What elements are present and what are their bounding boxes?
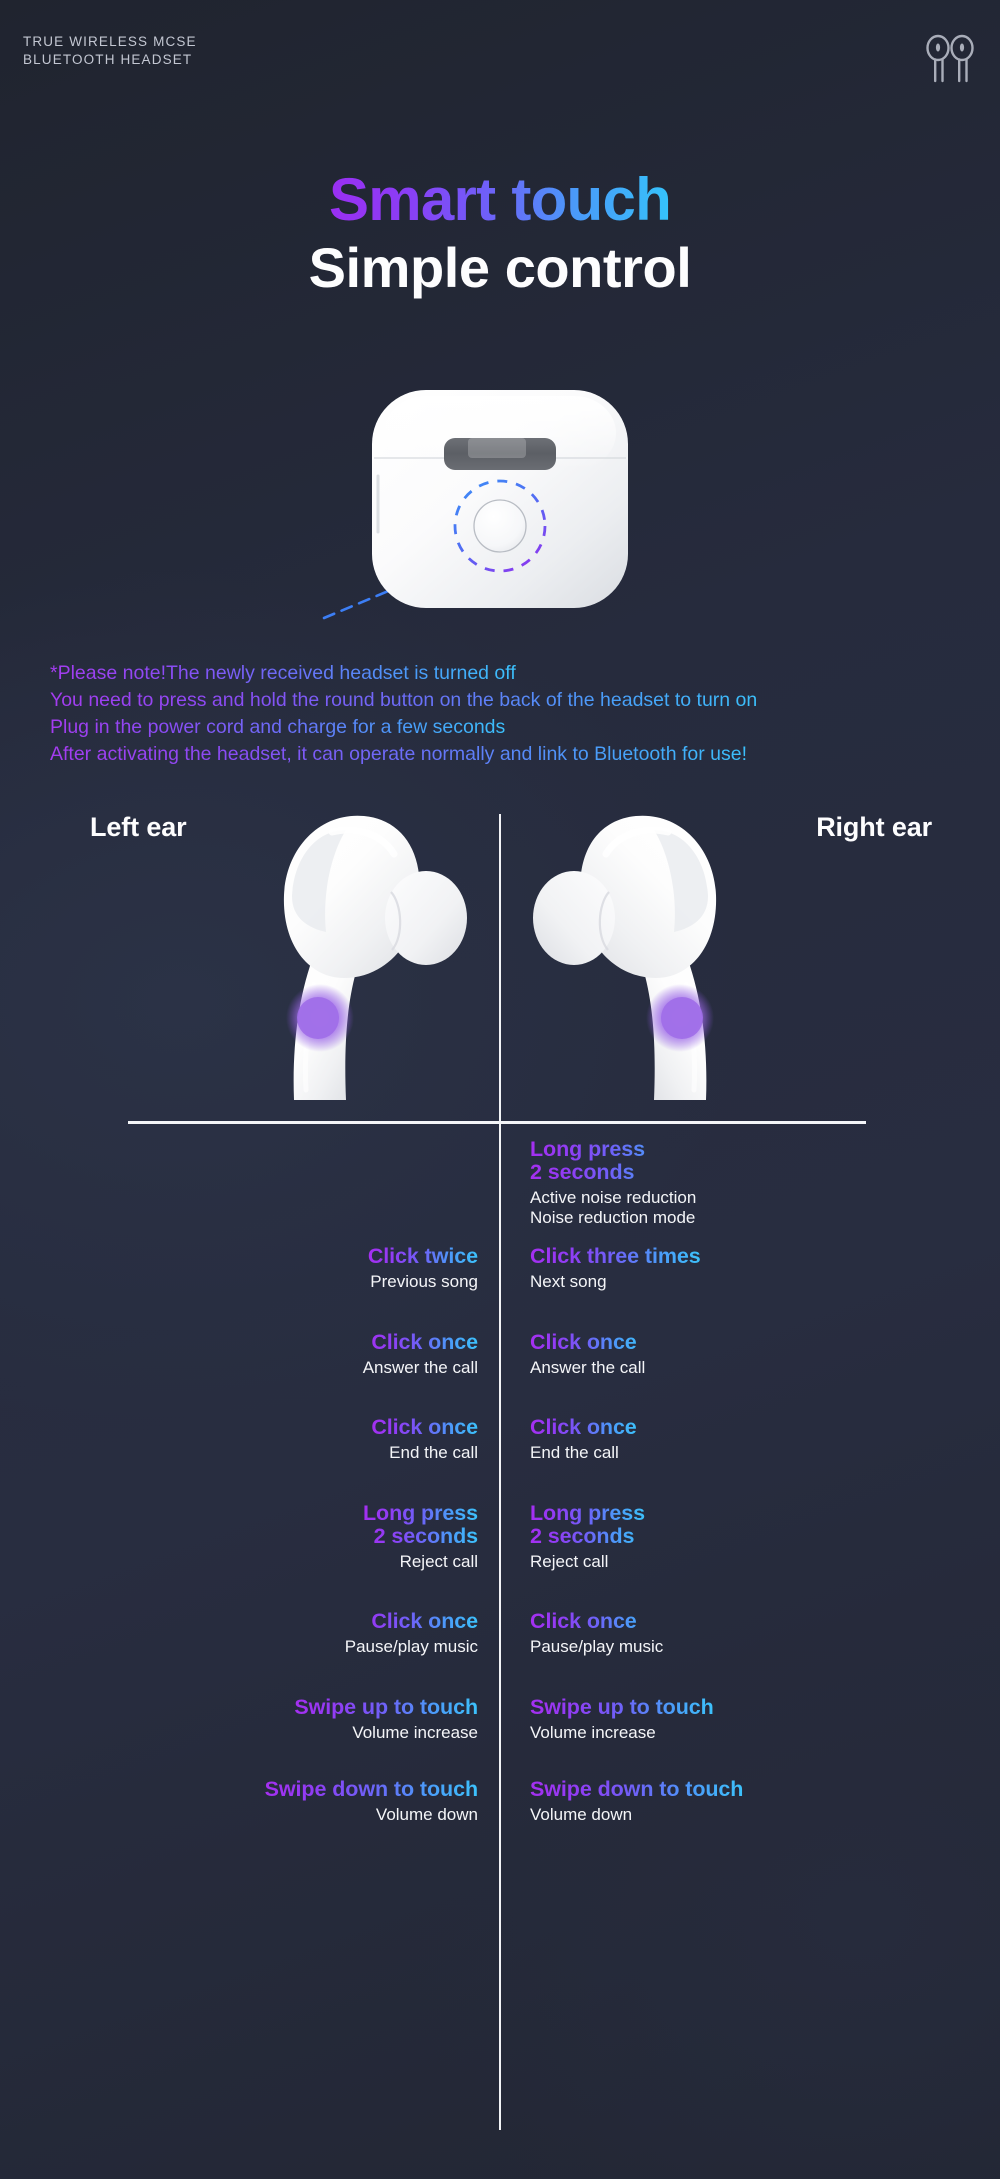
instruction-action-label: 2 seconds — [530, 1525, 645, 1548]
please-note-block: *Please note!The newly received headset … — [50, 660, 970, 768]
instruction-description: Active noise reduction — [530, 1188, 696, 1209]
left-earbud-icon — [240, 800, 475, 1110]
left-ear-instruction-cell: Click twicePrevious song — [368, 1245, 478, 1293]
right-ear-instruction-cell: Click onceEnd the call — [530, 1416, 637, 1464]
instruction-description: Reject call — [530, 1552, 645, 1573]
instruction-action-label: Click twice — [368, 1245, 478, 1268]
instruction-description: Noise reduction mode — [530, 1208, 696, 1229]
right-ear-instruction-cell: Click oncePause/play music — [530, 1610, 663, 1658]
charging-case-icon — [260, 380, 740, 648]
instruction-action-label: Swipe up to touch — [294, 1696, 478, 1719]
instruction-action-label: Click once — [530, 1416, 637, 1439]
title-line-1: Smart touch — [329, 168, 671, 232]
right-ear-instruction-cell: Swipe up to touchVolume increase — [530, 1696, 714, 1744]
instruction-description: Reject call — [363, 1552, 478, 1573]
header-brand-text: TRUE WIRELESS MCSE BLUETOOTH HEADSET — [23, 33, 197, 69]
instruction-description: Volume increase — [530, 1723, 714, 1744]
instruction-action-label: Long press — [530, 1138, 696, 1161]
right-earbud-icon — [525, 800, 760, 1110]
title-line-2: Simple control — [0, 236, 1000, 300]
left-ear-instruction-cell: Swipe down to touchVolume down — [265, 1778, 478, 1826]
note-line-2: You need to press and hold the round but… — [50, 687, 757, 714]
instruction-action-label: Swipe up to touch — [530, 1696, 714, 1719]
instruction-action-label: Swipe down to touch — [265, 1778, 478, 1801]
instruction-description: Previous song — [368, 1272, 478, 1293]
instruction-description: Volume down — [530, 1805, 743, 1826]
instruction-action-label: Swipe down to touch — [530, 1778, 743, 1801]
instruction-description: Answer the call — [363, 1358, 478, 1379]
instruction-action-label: 2 seconds — [530, 1161, 696, 1184]
instruction-description: Answer the call — [530, 1358, 645, 1379]
round-button-icon — [474, 500, 526, 552]
note-line-1: *Please note!The newly received headset … — [50, 660, 516, 687]
instruction-action-label: Click once — [345, 1610, 478, 1633]
instruction-action-label: Click once — [363, 1331, 478, 1354]
left-ear-instruction-cell: Click oncePause/play music — [345, 1610, 478, 1658]
instruction-action-label: Long press — [530, 1502, 645, 1525]
instruction-action-label: Click once — [371, 1416, 478, 1439]
charging-case-illustration — [0, 380, 1000, 650]
right-ear-instruction-cell: Click onceAnswer the call — [530, 1331, 645, 1379]
right-ear-instruction-cell: Click three timesNext song — [530, 1245, 701, 1293]
header-line-1: TRUE WIRELESS MCSE — [23, 33, 197, 51]
instruction-action-label: Click once — [530, 1331, 645, 1354]
right-ear-instruction-cell: Long press2 secondsReject call — [530, 1502, 645, 1572]
instruction-description: Pause/play music — [530, 1637, 663, 1658]
left-ear-instruction-cell: Click onceEnd the call — [371, 1416, 478, 1464]
instruction-description: Pause/play music — [345, 1637, 478, 1658]
instruction-action-label: Click three times — [530, 1245, 701, 1268]
instruction-description: Volume increase — [294, 1723, 478, 1744]
vertical-divider — [499, 814, 501, 2130]
instruction-description: End the call — [371, 1443, 478, 1464]
instruction-action-label: Long press — [363, 1502, 478, 1525]
instruction-action-label: 2 seconds — [363, 1525, 478, 1548]
instruction-description: End the call — [530, 1443, 637, 1464]
right-ear-instruction-cell: Swipe down to touchVolume down — [530, 1778, 743, 1826]
left-ear-instruction-cell: Long press2 secondsReject call — [363, 1502, 478, 1572]
header-line-2: BLUETOOTH HEADSET — [23, 51, 197, 69]
instruction-description: Next song — [530, 1272, 701, 1293]
note-line-4: After activating the headset, it can ope… — [50, 741, 747, 768]
left-ear-instruction-cell: Click onceAnswer the call — [363, 1331, 478, 1379]
right-ear-instruction-cell: Long press2 secondsActive noise reductio… — [530, 1138, 696, 1229]
instruction-description: Volume down — [265, 1805, 478, 1826]
instruction-action-label: Click once — [530, 1610, 663, 1633]
horizontal-divider — [128, 1121, 866, 1124]
note-line-3: Plug in the power cord and charge for a … — [50, 714, 505, 741]
earbuds-pair-icon — [922, 33, 978, 85]
page-title: Smart touch Simple control — [0, 168, 1000, 299]
left-ear-instruction-cell: Swipe up to touchVolume increase — [294, 1696, 478, 1744]
